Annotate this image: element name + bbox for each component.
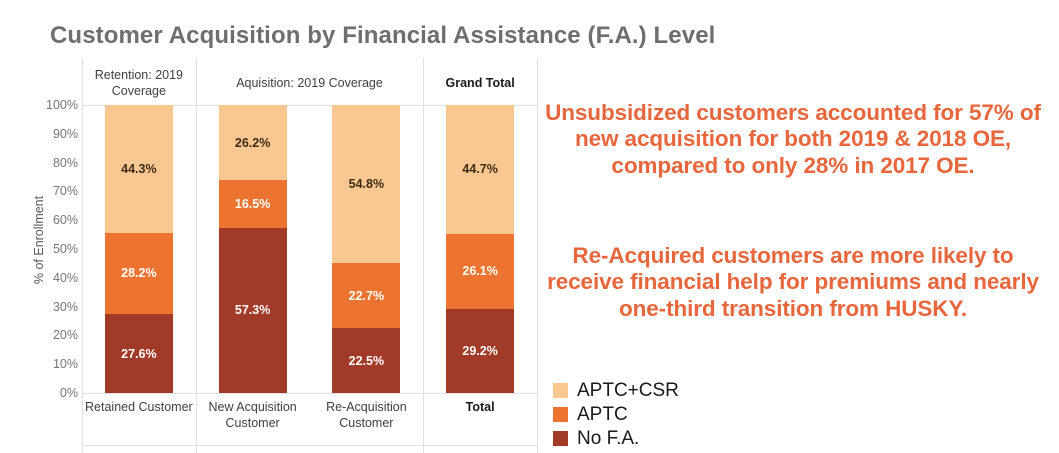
legend-item[interactable]: APTC — [553, 402, 803, 426]
panel-divider — [423, 58, 424, 453]
y-axis-tick: 50% — [53, 242, 78, 256]
legend-label: No F.A. — [577, 429, 639, 448]
bar-segment[interactable]: 22.5% — [332, 328, 400, 393]
callout-text-1: Unsubsidized customers accounted for 57%… — [537, 100, 1049, 179]
footer-separator-line — [82, 445, 537, 446]
column-header: Retention: 2019 Coverage — [82, 62, 196, 105]
bar-stack[interactable]: 26.2%16.5%57.3% — [219, 105, 287, 393]
page-title: Customer Acquisition by Financial Assist… — [50, 22, 715, 50]
y-axis-tick: 30% — [53, 300, 78, 314]
bar-segment[interactable]: 26.1% — [446, 234, 514, 309]
bar-segment[interactable]: 29.2% — [446, 309, 514, 393]
y-axis-tick: 60% — [53, 213, 78, 227]
y-axis-tick: 0% — [60, 386, 78, 400]
column-header: Grand Total — [423, 62, 537, 105]
bar-value-label: 44.3% — [121, 162, 156, 176]
legend-swatch-icon — [553, 383, 568, 398]
legend-label: APTC — [577, 405, 628, 424]
callout-text-2: Re-Acquired customers are more likely to… — [545, 243, 1041, 322]
legend-swatch-icon — [553, 407, 568, 422]
x-axis-tick: Retained Customer — [82, 397, 196, 443]
panel-divider — [82, 58, 83, 453]
bar-segment[interactable]: 27.6% — [105, 314, 173, 393]
chart-region: % of Enrollment 0%10%20%30%40%50%60%70%8… — [12, 58, 537, 453]
bar-value-label: 27.6% — [121, 347, 156, 361]
bar-segment[interactable]: 44.3% — [105, 105, 173, 233]
legend-item[interactable]: APTC+CSR — [553, 378, 803, 402]
y-axis-tick: 100% — [46, 98, 78, 112]
y-axis-tick-labels: 0%10%20%30%40%50%60%70%80%90%100% — [34, 105, 82, 393]
bar-stack[interactable]: 44.7%26.1%29.2% — [446, 105, 514, 393]
y-axis-tick: 20% — [53, 328, 78, 342]
bar-value-label: 44.7% — [462, 162, 497, 176]
column-header: Aquisition: 2019 Coverage — [196, 62, 424, 105]
legend-label: APTC+CSR — [577, 381, 679, 400]
bar-value-label: 22.7% — [349, 289, 384, 303]
bar-segment[interactable]: 26.2% — [219, 105, 287, 180]
x-axis-tick: New Acquisition Customer — [196, 397, 310, 443]
chart-legend: APTC+CSRAPTCNo F.A. — [553, 378, 803, 450]
bar-value-label: 22.5% — [349, 354, 384, 368]
bar-value-label: 16.5% — [235, 197, 270, 211]
bar-value-label: 57.3% — [235, 303, 270, 317]
bar-segment[interactable]: 16.5% — [219, 180, 287, 228]
bar-segment[interactable]: 22.7% — [332, 263, 400, 328]
bar-segment[interactable]: 44.7% — [446, 105, 514, 234]
y-axis-tick: 80% — [53, 156, 78, 170]
x-axis-tick: Re-Acquisition Customer — [310, 397, 424, 443]
bar-value-label: 26.2% — [235, 136, 270, 150]
bar-value-label: 26.1% — [462, 264, 497, 278]
bar-segment[interactable]: 54.8% — [332, 105, 400, 263]
x-axis-tick: Total — [423, 397, 537, 443]
bar-segment[interactable]: 57.3% — [219, 228, 287, 393]
slide-canvas: Customer Acquisition by Financial Assist… — [0, 0, 1059, 453]
y-axis-tick: 40% — [53, 271, 78, 285]
legend-item[interactable]: No F.A. — [553, 426, 803, 450]
bar-value-label: 29.2% — [462, 344, 497, 358]
bar-value-label: 28.2% — [121, 266, 156, 280]
legend-swatch-icon — [553, 431, 568, 446]
y-axis-tick: 70% — [53, 184, 78, 198]
panel-divider — [196, 58, 197, 453]
y-axis-tick: 90% — [53, 127, 78, 141]
bar-segment[interactable]: 28.2% — [105, 233, 173, 314]
bar-stack[interactable]: 54.8%22.7%22.5% — [332, 105, 400, 393]
bar-value-label: 54.8% — [349, 177, 384, 191]
y-axis-tick: 10% — [53, 357, 78, 371]
bar-stack[interactable]: 44.3%28.2%27.6% — [105, 105, 173, 393]
